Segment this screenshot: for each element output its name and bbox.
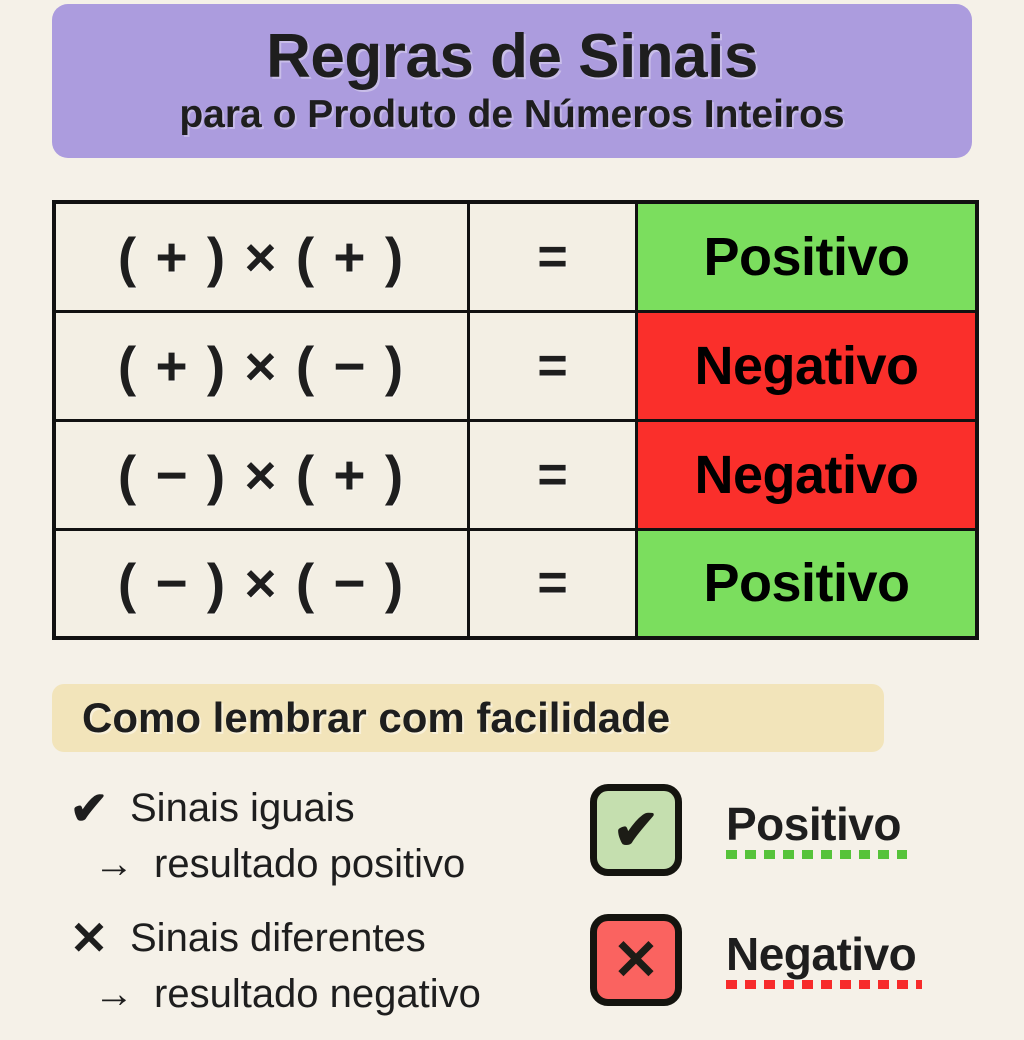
rule-result-cell: Positivo (637, 202, 978, 311)
tips-banner: Como lembrar com facilidade (52, 684, 884, 752)
page-title: Regras de Sinais (266, 25, 758, 88)
mnemonic-condition: Sinais iguais (130, 786, 355, 831)
table-row: ( + ) × ( + ) = Positivo (54, 202, 977, 311)
mnemonic-text-group: ✔ Sinais iguais → resultado positivo (66, 780, 576, 892)
rule-result: Positivo (703, 553, 909, 613)
negative-underline (726, 980, 922, 989)
check-icon: ✔ (66, 785, 112, 831)
tips-banner-title: Como lembrar com facilidade (82, 694, 670, 742)
cross-icon: ✕ (66, 915, 112, 961)
equals-sign: = (537, 446, 567, 504)
table-row: ( + ) × ( − ) = Negativo (54, 311, 977, 420)
negative-badge-label-wrap: Negativo (726, 931, 916, 989)
positive-badge-label: Positivo (726, 798, 901, 850)
mnemonic-condition: Sinais diferentes (130, 916, 426, 961)
rule-result-cell: Negativo (637, 420, 978, 529)
equals-sign: = (537, 554, 567, 612)
check-icon: ✔ (613, 802, 660, 858)
rule-expression-cell: ( + ) × ( − ) (54, 311, 469, 420)
rule-result: Positivo (703, 227, 909, 287)
mnemonics-section: ✔ Sinais iguais → resultado positivo ✔ P… (0, 780, 1024, 1040)
table-row: ( − ) × ( + ) = Negativo (54, 420, 977, 529)
rule-result: Negativo (694, 336, 918, 396)
rule-equals-cell: = (469, 311, 637, 420)
mnemonic-outcome: resultado positivo (154, 842, 465, 887)
rule-expression-cell: ( − ) × ( + ) (54, 420, 469, 529)
rule-result-cell: Negativo (637, 311, 978, 420)
equals-sign: = (537, 228, 567, 286)
arrow-right-icon: → (88, 974, 140, 1014)
rule-equals-cell: = (469, 529, 637, 638)
mnemonic-row-negative: ✕ Sinais diferentes → resultado negativo… (0, 910, 1024, 1040)
rule-expression-cell: ( − ) × ( − ) (54, 529, 469, 638)
mnemonic-row-positive: ✔ Sinais iguais → resultado positivo ✔ P… (0, 780, 1024, 910)
negative-badge-label: Negativo (726, 928, 916, 980)
positive-badge-box: ✔ (590, 784, 682, 876)
negative-badge-box: ✕ (590, 914, 682, 1006)
rule-expression: ( + ) × ( + ) (118, 226, 405, 288)
badge-group-positive: ✔ Positivo (590, 784, 901, 876)
positive-badge-label-wrap: Positivo (726, 801, 901, 859)
mnemonic-text-group: ✕ Sinais diferentes → resultado negativo (66, 910, 576, 1022)
rule-expression: ( + ) × ( − ) (118, 335, 405, 397)
badge-group-negative: ✕ Negativo (590, 914, 916, 1006)
mnemonic-line-secondary: → resultado positivo (66, 836, 576, 892)
rule-equals-cell: = (469, 420, 637, 529)
table-row: ( − ) × ( − ) = Positivo (54, 529, 977, 638)
rule-expression-cell: ( + ) × ( + ) (54, 202, 469, 311)
mnemonic-line-primary: ✔ Sinais iguais (66, 780, 576, 836)
cross-icon: ✕ (613, 932, 660, 988)
rule-result: Negativo (694, 445, 918, 505)
rule-equals-cell: = (469, 202, 637, 311)
rule-expression: ( − ) × ( + ) (118, 444, 405, 506)
rule-expression: ( − ) × ( − ) (118, 552, 405, 614)
mnemonic-outcome: resultado negativo (154, 972, 481, 1017)
rule-result-cell: Positivo (637, 529, 978, 638)
page-subtitle: para o Produto de Números Inteiros (179, 94, 844, 137)
header-banner: Regras de Sinais para o Produto de Númer… (52, 4, 972, 158)
arrow-right-icon: → (88, 844, 140, 884)
sign-rules-table: ( + ) × ( + ) = Positivo ( + ) × ( − ) =… (52, 200, 979, 640)
mnemonic-line-primary: ✕ Sinais diferentes (66, 910, 576, 966)
mnemonic-line-secondary: → resultado negativo (66, 966, 576, 1022)
positive-underline (726, 850, 907, 859)
equals-sign: = (537, 337, 567, 395)
